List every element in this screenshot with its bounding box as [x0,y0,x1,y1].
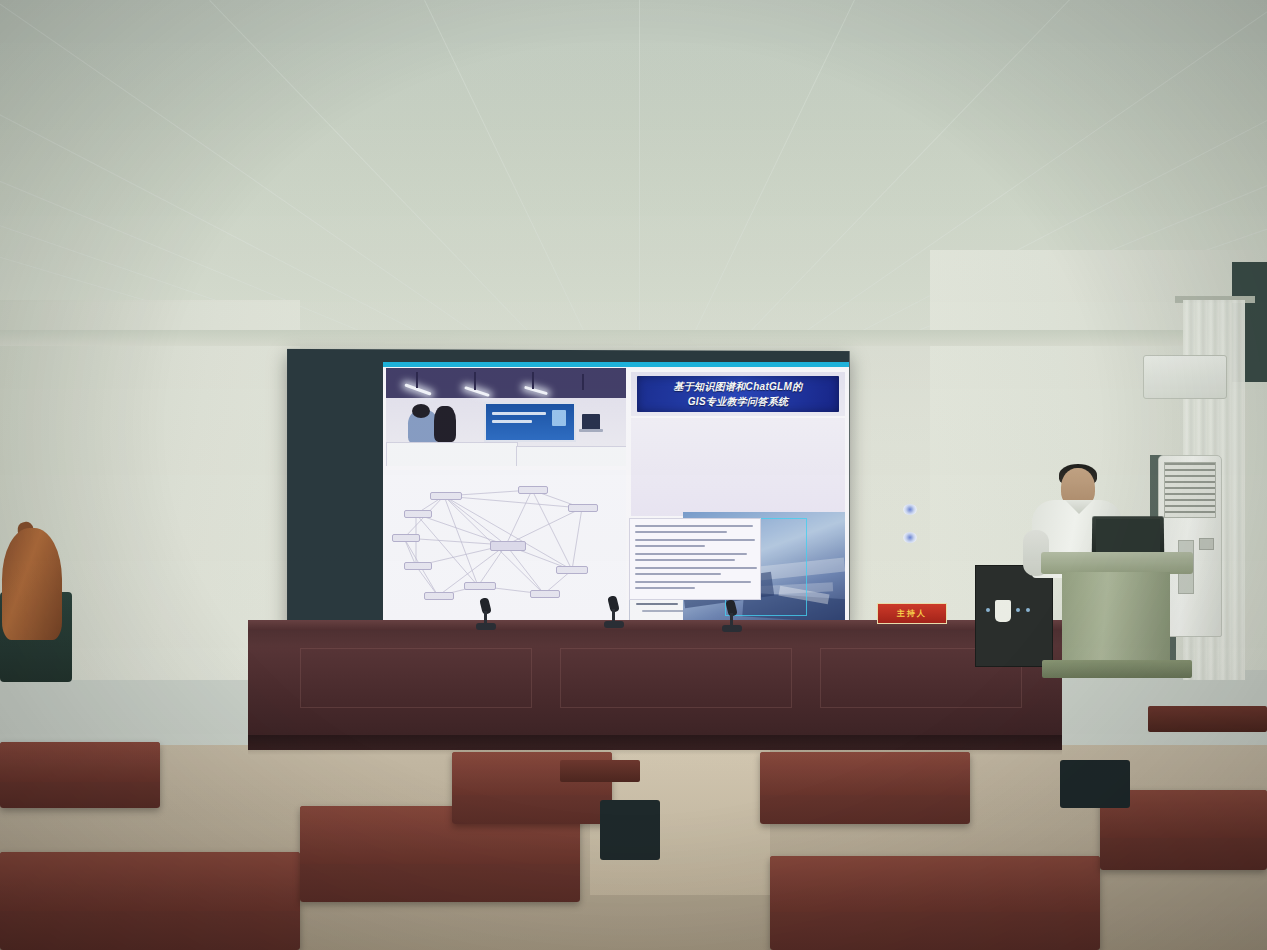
lecture-hall-photo: 基于知识图谱和ChatGLM的 GIS专业教学问答系统 [0,0,1267,950]
audience [0,0,1267,950]
slide-qa-document [629,518,761,600]
